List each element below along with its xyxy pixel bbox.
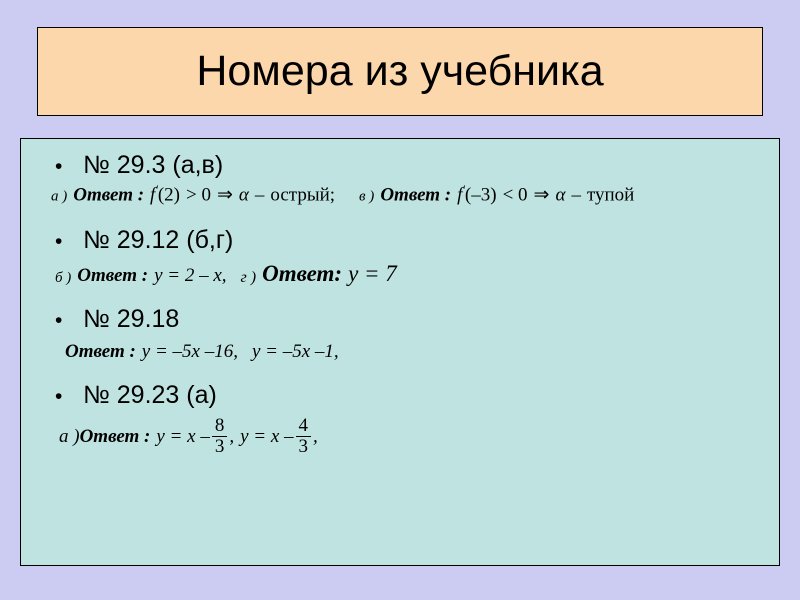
implies-icon-v: ⇒ [534,184,550,205]
bullet-line: • № 29.12 (б,г) [21,226,779,255]
answer-expr-g: y = 7 [348,261,397,287]
answer-expr-b: y = 2 – x, [154,265,226,287]
implies-icon-a: ⇒ [217,184,233,205]
bullet-icon: • [55,231,69,252]
comma-2: , [313,426,318,448]
spacer [21,287,779,305]
answer-word-v: Ответ : [380,184,451,205]
fraction-numerator-1: 8 [212,416,228,436]
title-box: Номера из учебника [37,27,763,116]
item-label-4: № 29.23 (а) [69,381,217,410]
bullet-icon: • [55,156,69,177]
answer-line-1: а )Ответ :f'(2)> 0⇒α–острый;в )Ответ :f'… [21,183,779,206]
bullet-line: • № 29.3 (а,в) [21,151,779,180]
alpha-symbol-v: α [555,184,565,205]
spacer [21,363,779,381]
answer-expr-4a: y = x – [156,426,209,448]
answer-word-g: Ответ: [262,261,342,287]
dash-a: – [255,184,265,205]
list-item: • № 29.3 (а,в) а )Ответ :f'(2)> 0⇒α–остр… [21,151,779,206]
fraction-8-3: 8 3 [212,416,228,457]
answer-word-a: Ответ : [73,184,144,205]
answer-sublabel-a4: а ) [59,426,80,448]
answer-expr-4b: y = x – [240,426,293,448]
answer-sublabel-g: г ) [241,269,257,287]
answer-arg-v: (–3) [465,184,497,205]
item-label-1: № 29.3 (а,в) [69,151,223,180]
answer-line-3: Ответ :y = –5x –16,y = –5x –1, [21,341,779,363]
page-title: Номера из учебника [196,47,603,96]
answer-relation-a: > 0 [186,184,211,205]
slide: Номера из учебника • № 29.3 (а,в) а )Отв… [0,0,800,600]
answer-expr-3a: y = –5x –16, [142,341,238,362]
item-label-3: № 29.18 [69,305,179,334]
answer-conclusion-a: острый; [270,184,335,205]
fraction-4-3: 4 3 [296,416,312,457]
bullet-icon: • [55,310,69,331]
answer-arg-a: (2) [158,184,180,205]
spacer [21,206,779,226]
answer-relation-v: < 0 [503,184,528,205]
fraction-denominator-1: 3 [212,436,228,457]
comma-1: , [229,426,234,448]
bullet-line: • № 29.18 [21,305,779,334]
list-item: • № 29.23 (а) а )Ответ :y = x – 8 3 ,y =… [21,381,779,457]
item-label-2: № 29.12 (б,г) [69,226,233,255]
answer-expr-3b: y = –5x –1, [252,341,339,362]
list-item: • № 29.12 (б,г) б )Ответ :y = 2 – x,г )О… [21,226,779,287]
answer-sublabel-v: в ) [359,188,374,204]
dash-v: – [571,184,581,205]
list-item: • № 29.18 Ответ :y = –5x –16,y = –5x –1, [21,305,779,363]
answer-word-b: Ответ : [77,265,148,287]
answer-sublabel-a: а ) [51,188,67,204]
fraction-denominator-2: 3 [296,436,312,457]
answer-sublabel-b: б ) [55,270,71,287]
alpha-symbol-a: α [239,184,249,205]
bullet-line: • № 29.23 (а) [21,381,779,410]
answer-word-3: Ответ : [65,341,136,362]
content-box: • № 29.3 (а,в) а )Ответ :f'(2)> 0⇒α–остр… [20,138,780,566]
answer-line-4: а )Ответ :y = x – 8 3 ,y = x – 4 3 , [21,416,779,457]
answer-conclusion-v: тупой [587,184,634,205]
fraction-numerator-2: 4 [296,416,312,436]
bullet-icon: • [55,386,69,407]
answer-line-2: б )Ответ :y = 2 – x,г )Ответ:y = 7 [21,261,779,287]
answer-word-4: Ответ : [80,426,151,448]
